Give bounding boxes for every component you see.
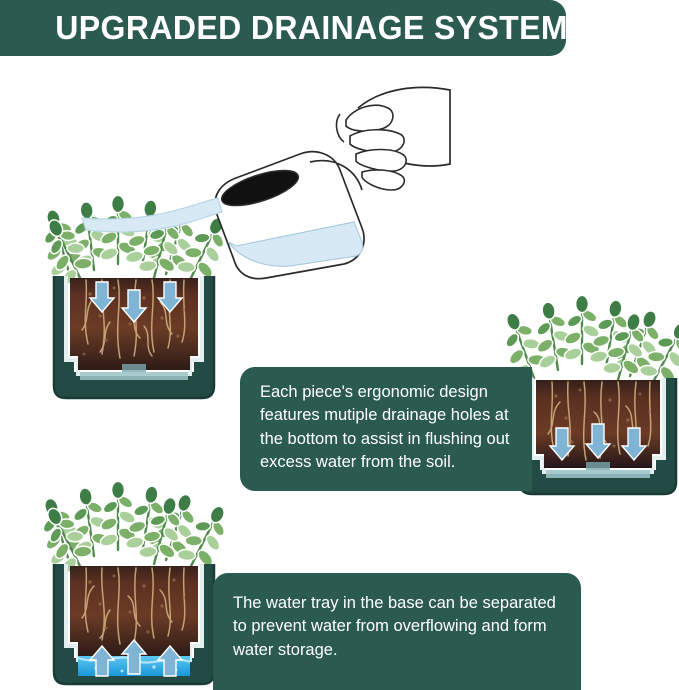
planter-right xyxy=(512,268,679,498)
infographic-canvas: UPGRADED DRAINAGE SYSTEM xyxy=(0,0,679,690)
callout-water-tray-text: The water tray in the base can be separa… xyxy=(233,592,563,662)
page-title: UPGRADED DRAINAGE SYSTEM xyxy=(0,9,568,47)
drainage-arrow-down xyxy=(550,424,646,460)
callout-drainage-holes: Each piece's ergonomic design features m… xyxy=(240,367,532,491)
watering-can-illustration xyxy=(150,78,450,288)
callout-drainage-holes-text: Each piece's ergonomic design features m… xyxy=(260,381,515,475)
tray-water xyxy=(80,372,188,380)
callout-water-tray: The water tray in the base can be separa… xyxy=(213,573,581,690)
planter-bottom-left xyxy=(44,442,224,690)
tray-water xyxy=(546,470,650,478)
header-banner: UPGRADED DRAINAGE SYSTEM xyxy=(0,0,566,56)
